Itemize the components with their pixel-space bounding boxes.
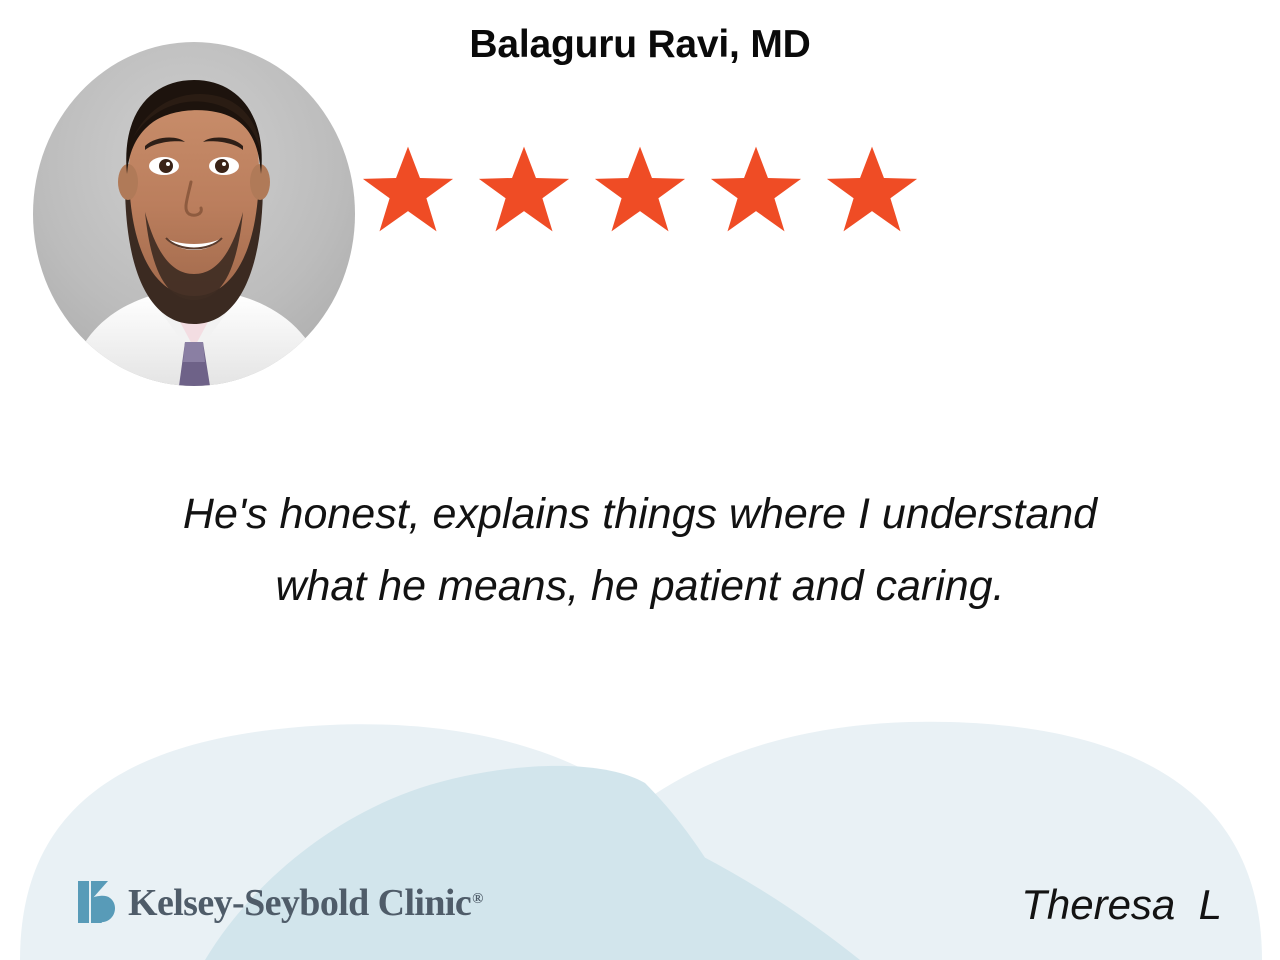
reviewer-name: Theresa L bbox=[1021, 880, 1222, 930]
doctor-photo bbox=[33, 42, 355, 386]
decor-arc-overlap-wedge bbox=[205, 766, 758, 960]
brand-name-text: Kelsey-Seybold Clinic bbox=[128, 882, 471, 924]
kelsey-k-mark-icon bbox=[78, 881, 118, 923]
testimonial-quote-line-1: He's honest, explains things where I und… bbox=[90, 478, 1190, 550]
decor-arc-left bbox=[20, 724, 760, 960]
star-icon-3 bbox=[594, 143, 686, 235]
doctor-photo-image bbox=[33, 42, 355, 386]
star-icon-4 bbox=[710, 143, 802, 235]
star-icon-5 bbox=[826, 143, 918, 235]
doctor-name: Balaguru Ravi, MD bbox=[360, 22, 920, 69]
testimonial-quote-line-2: what he means, he patient and caring. bbox=[90, 550, 1190, 622]
star-rating bbox=[362, 142, 918, 236]
registered-trademark-symbol: ® bbox=[472, 891, 483, 907]
star-icon-1 bbox=[362, 143, 454, 235]
testimonial-quote: He's honest, explains things where I und… bbox=[90, 478, 1190, 622]
brand-name: Kelsey-Seybold Clinic® bbox=[128, 884, 482, 922]
brand-logo: Kelsey-Seybold Clinic® bbox=[78, 881, 482, 923]
star-icon-2 bbox=[478, 143, 570, 235]
testimonial-slide: Balaguru Ravi, MD He's honest, explains … bbox=[0, 0, 1280, 960]
